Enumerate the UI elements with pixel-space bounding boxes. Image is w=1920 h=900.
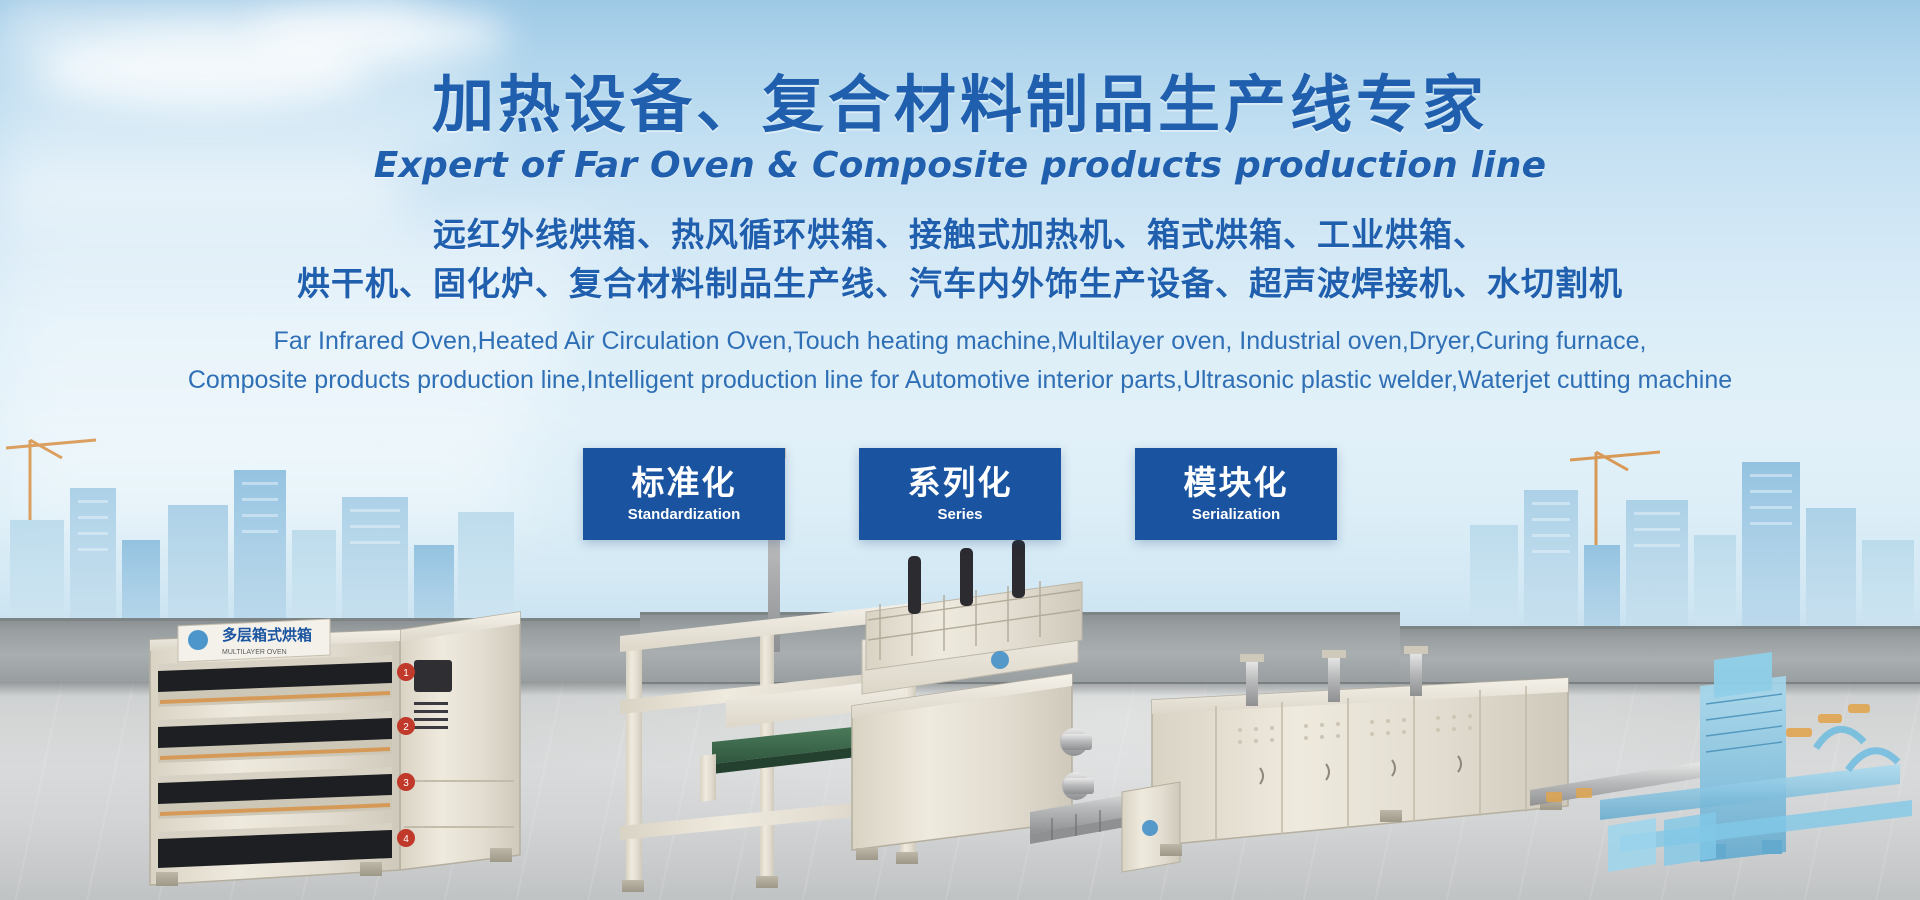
badge-standardization[interactable]: 标准化 Standardization bbox=[583, 448, 785, 540]
badge-label-cn: 系列化 bbox=[908, 465, 1013, 501]
products-english-line-1: Far Infrared Oven,Heated Air Circulation… bbox=[0, 322, 1920, 361]
badge-serialization[interactable]: 模块化 Serialization bbox=[1135, 448, 1337, 540]
badge-label-cn: 标准化 bbox=[632, 465, 737, 501]
badge-label-en: Series bbox=[937, 506, 982, 523]
svg-text:2: 2 bbox=[403, 722, 409, 733]
products-chinese-line-2: 烘干机、固化炉、复合材料制品生产线、汽车内外饰生产设备、超声波焊接机、水切割机 bbox=[0, 261, 1920, 308]
banner-stage: 1 2 3 4 多层箱式烘箱 MULTILAYER OVEN bbox=[0, 0, 1920, 900]
svg-text:多层箱式烘箱: 多层箱式烘箱 bbox=[222, 626, 312, 644]
badge-label-en: Serialization bbox=[1192, 506, 1280, 523]
svg-text:MULTILAYER OVEN: MULTILAYER OVEN bbox=[222, 649, 287, 656]
badge-series[interactable]: 系列化 Series bbox=[859, 448, 1061, 540]
feature-badges: 标准化 Standardization 系列化 Series 模块化 Seria… bbox=[0, 448, 1920, 540]
products-english-line-2: Composite products production line,Intel… bbox=[0, 361, 1920, 400]
products-chinese-line-1: 远红外线烘箱、热风循环烘箱、接触式加热机、箱式烘箱、工业烘箱、 bbox=[0, 212, 1920, 259]
badge-label-cn: 模块化 bbox=[1184, 465, 1289, 501]
badge-label-en: Standardization bbox=[628, 506, 741, 523]
control-display bbox=[414, 660, 452, 692]
machine-robotic-cell bbox=[1530, 652, 1912, 872]
machine-tunnel-oven bbox=[1030, 646, 1568, 872]
svg-text:4: 4 bbox=[403, 834, 409, 845]
machine-multilayer-oven: 1 2 3 4 多层箱式烘箱 MULTILAYER OVEN bbox=[150, 612, 520, 886]
svg-text:3: 3 bbox=[403, 778, 409, 789]
machine-nameplate: 多层箱式烘箱 MULTILAYER OVEN bbox=[178, 619, 330, 662]
svg-text:1: 1 bbox=[403, 668, 409, 679]
banner-text-block: 加热设备、复合材料制品生产线专家 Expert of Far Oven & Co… bbox=[0, 0, 1920, 399]
headline-english: Expert of Far Oven & Composite products … bbox=[0, 145, 1920, 186]
headline-chinese: 加热设备、复合材料制品生产线专家 bbox=[0, 72, 1920, 137]
